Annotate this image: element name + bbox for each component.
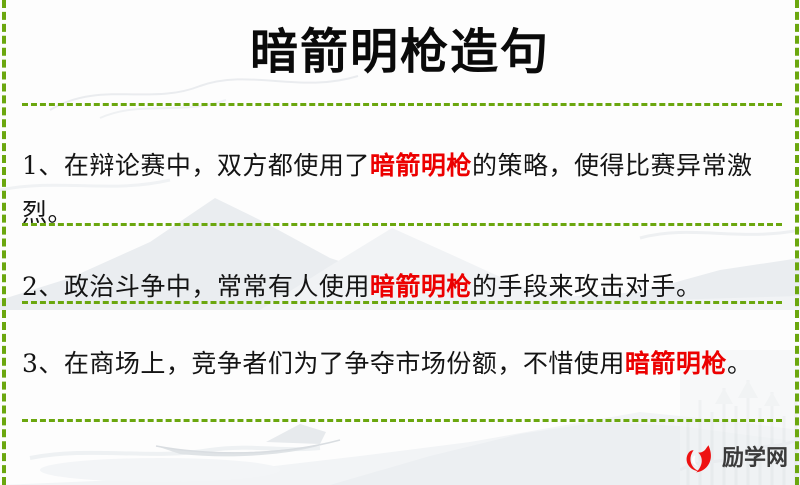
sentence-text-after-3: 。 [727, 349, 753, 378]
sentence-number-3: 3、 [22, 349, 64, 378]
logo-text: 励学网 [722, 448, 788, 470]
divider-below-title [22, 103, 782, 106]
page-title: 暗箭明枪造句 [250, 28, 550, 76]
sentence-number-2: 2、 [22, 272, 64, 301]
site-logo[interactable]: 励学网 [684, 441, 788, 477]
divider-after-sentence-1 [22, 223, 782, 226]
divider-after-sentence-3 [22, 419, 782, 422]
sentence-text-before-3: 在商场上，竞争者们为了争夺市场份额，不惜使用 [64, 349, 625, 378]
idiom-highlight-3: 暗箭明枪 [625, 349, 727, 378]
divider-after-sentence-2 [22, 301, 782, 304]
sentence-text-after-2: 的手段来攻击对手。 [472, 272, 702, 301]
idiom-highlight-2: 暗箭明枪 [370, 272, 472, 301]
sentence-text-before-1: 在辩论赛中，双方都使用了 [64, 151, 370, 180]
boat-watermark [150, 420, 360, 465]
sentence-text-before-2: 政治斗争中，常常有人使用 [64, 272, 370, 301]
idiom-highlight-1: 暗箭明枪 [370, 151, 472, 180]
sentence-item-3: 3、在商场上，竞争者们为了争夺市场份额，不惜使用暗箭明枪。 [22, 340, 784, 387]
page-root: 暗箭明枪造句 1、在辩论赛中，双方都使用了暗箭明枪的策略，使得比赛异常激烈。 2… [0, 0, 800, 485]
phoenix-swirl-icon [684, 442, 718, 476]
title-bar: 暗箭明枪造句 [0, 0, 800, 103]
border-left-dashed [2, 0, 6, 485]
border-right-dashed [795, 0, 799, 485]
sentence-item-1: 1、在辩论赛中，双方都使用了暗箭明枪的策略，使得比赛异常激烈。 [22, 142, 784, 236]
sentence-number-1: 1、 [22, 151, 64, 180]
